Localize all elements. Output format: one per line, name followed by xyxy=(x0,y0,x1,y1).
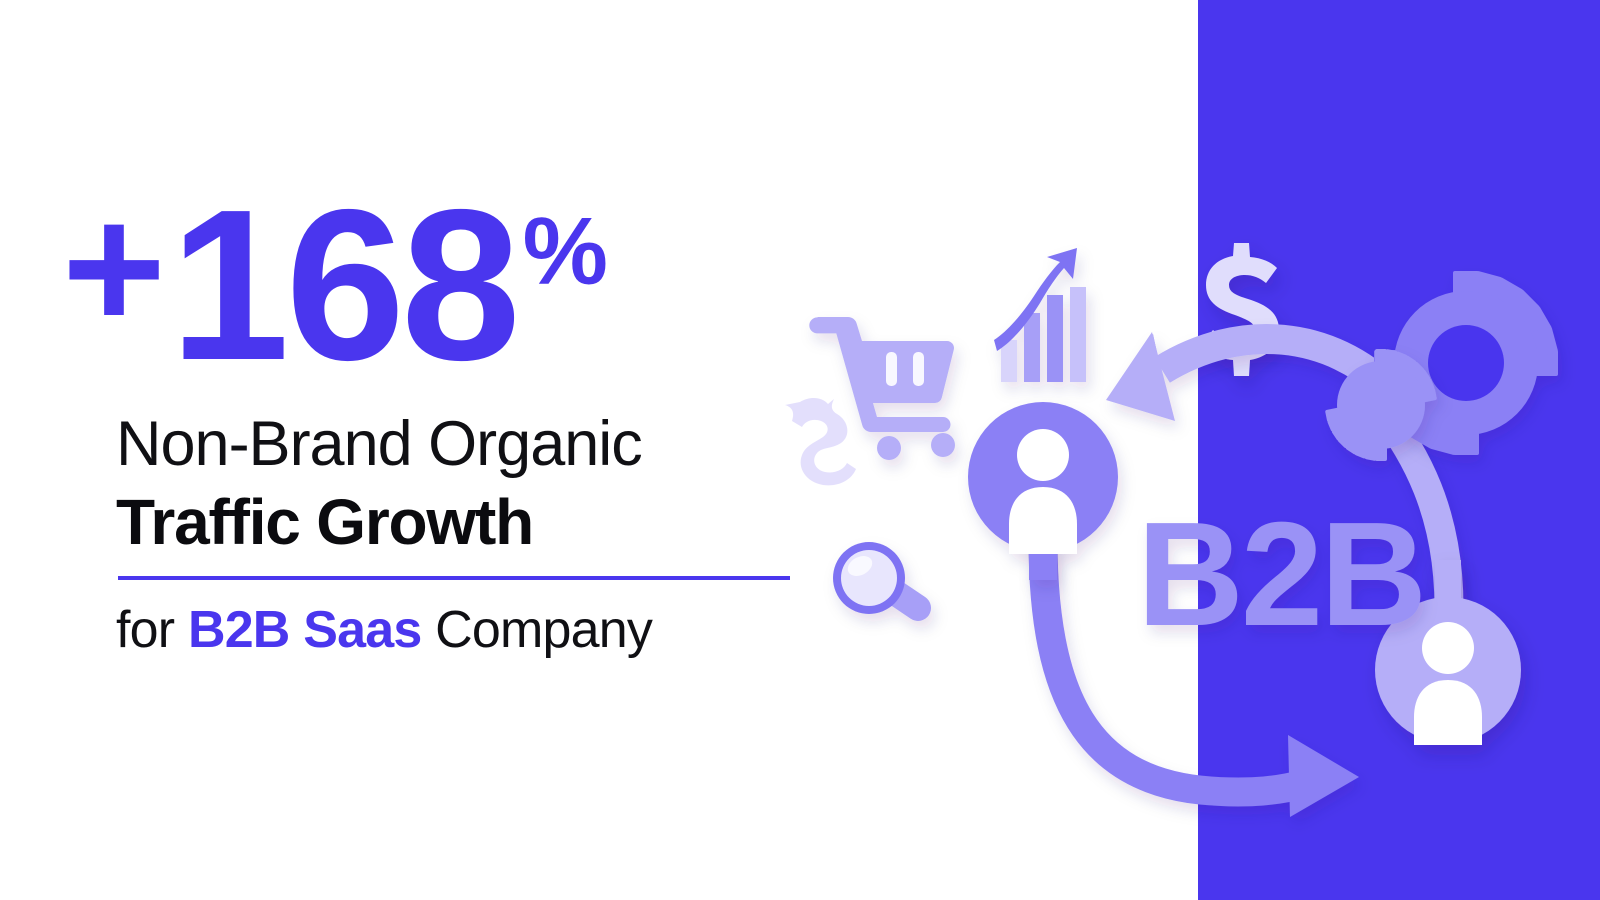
money-bag-icon xyxy=(785,398,856,485)
bar-chart-growth-icon xyxy=(994,248,1086,382)
right-color-panel xyxy=(1198,0,1600,900)
headline-plus-sign: + xyxy=(62,186,164,350)
headline-number: 168 xyxy=(170,186,517,384)
subhead-line-1: Non-Brand Organic xyxy=(116,408,642,480)
subhead-line-3-prefix: for xyxy=(116,601,188,659)
subhead-line-3-accent: B2B Saas xyxy=(188,601,422,659)
headline-stat: + 168 % xyxy=(62,186,606,384)
headline-percent-sign: % xyxy=(523,204,606,300)
subhead-line-3: for B2B Saas Company xyxy=(116,600,652,660)
subhead-line-2: Traffic Growth xyxy=(116,485,533,559)
accent-divider xyxy=(118,576,790,580)
infographic-canvas: B2B + 168 % Non-Brand Organic Traffic Gr… xyxy=(0,0,1600,900)
shopping-cart-icon xyxy=(809,317,955,460)
user-avatar-left-icon xyxy=(968,402,1118,580)
magnifier-icon xyxy=(833,542,936,626)
subhead-line-3-suffix: Company xyxy=(421,601,652,659)
